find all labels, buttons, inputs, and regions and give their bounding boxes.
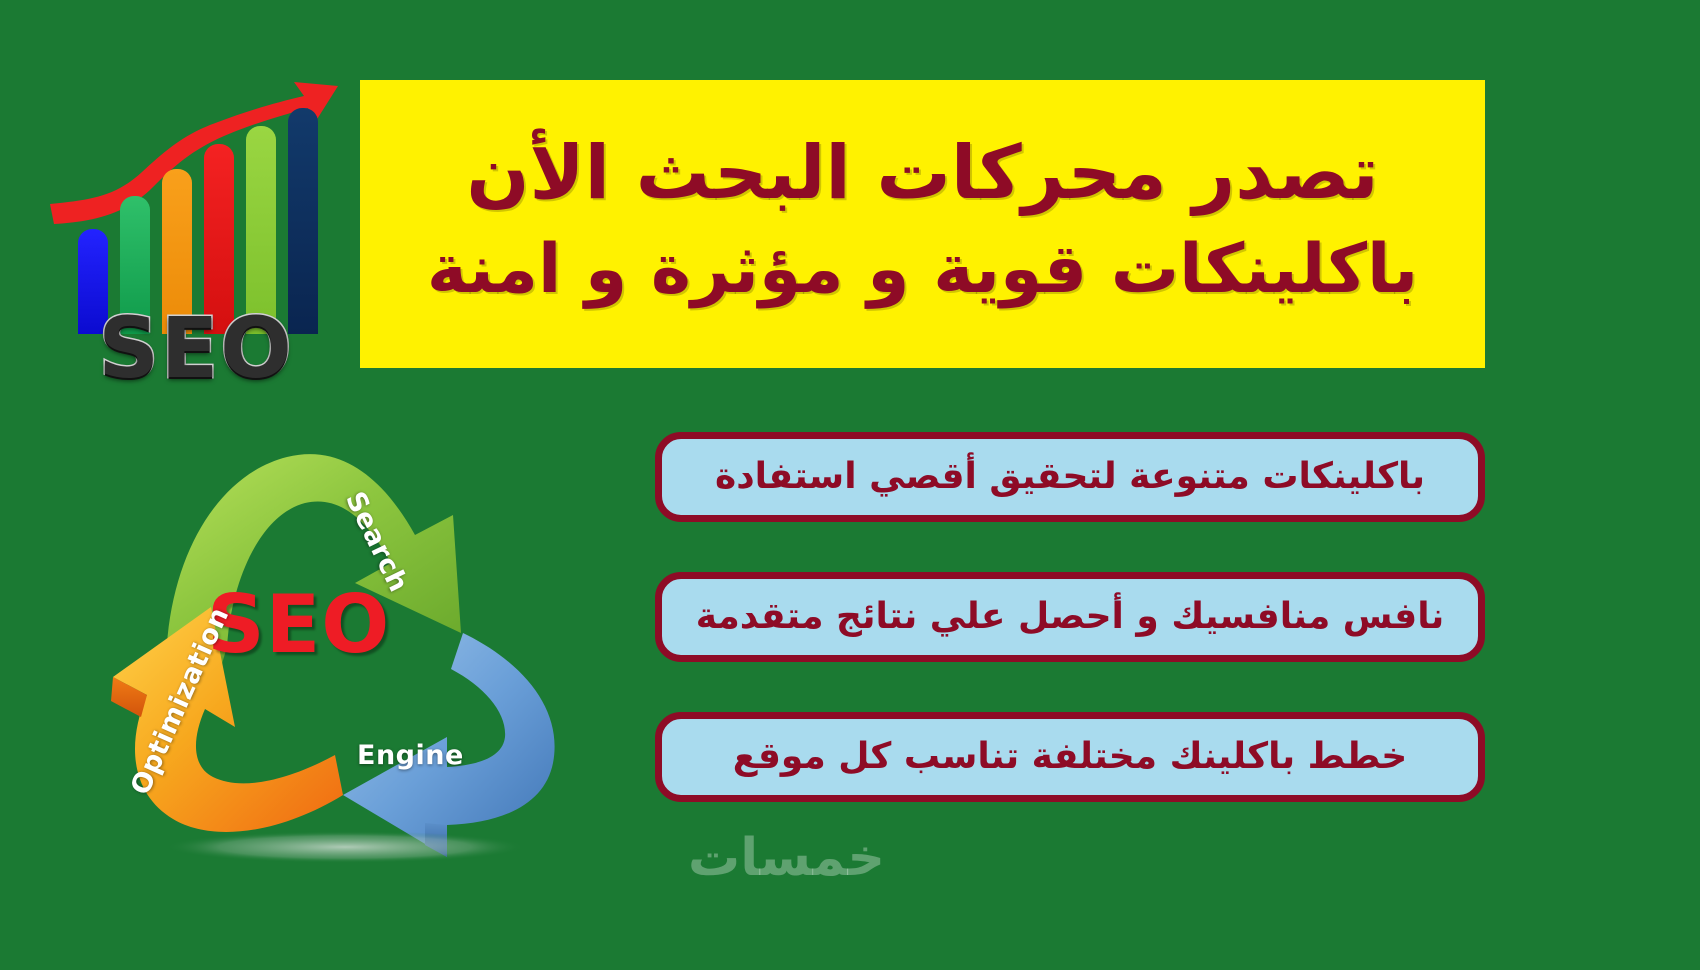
cycle-label-engine: Engine xyxy=(357,740,464,771)
seo-bar-chart-logo: SEO xyxy=(42,62,342,382)
illustration-shadow xyxy=(165,831,525,863)
feature-text-3: خطط باكلينك مختلفة تناسب كل موقع xyxy=(684,735,1456,778)
feature-box-2: نافس منافسيك و أحصل علي نتائج متقدمة xyxy=(655,572,1485,662)
headline-banner: تصدر محركات البحث الأن باكلينكات قوية و … xyxy=(360,80,1485,368)
feature-text-1: باكلينكات متنوعة لتحقيق أقصي استفادة xyxy=(684,455,1456,498)
feature-text-2: نافس منافسيك و أحصل علي نتائج متقدمة xyxy=(684,595,1456,638)
feature-box-3: خطط باكلينك مختلفة تناسب كل موقع xyxy=(655,712,1485,802)
feature-box-1: باكلينكات متنوعة لتحقيق أقصي استفادة xyxy=(655,432,1485,522)
cycle-seo-wordmark: SEO xyxy=(207,585,390,665)
khamsat-watermark: خمسات xyxy=(688,832,885,884)
headline-line-2: باكلينكات قوية و مؤثرة و امنة xyxy=(386,229,1459,312)
headline-line-1: تصدر محركات البحث الأن xyxy=(386,128,1459,218)
seo-recycle-illustration: SEO Search Optimization Engine xyxy=(55,395,625,865)
poster-canvas: SEO تصدر محركات البحث الأن باكلينكات قوي… xyxy=(0,0,1700,970)
seo-logo-wordmark: SEO xyxy=(56,306,336,390)
feature-list: باكلينكات متنوعة لتحقيق أقصي استفادة ناف… xyxy=(655,432,1485,802)
